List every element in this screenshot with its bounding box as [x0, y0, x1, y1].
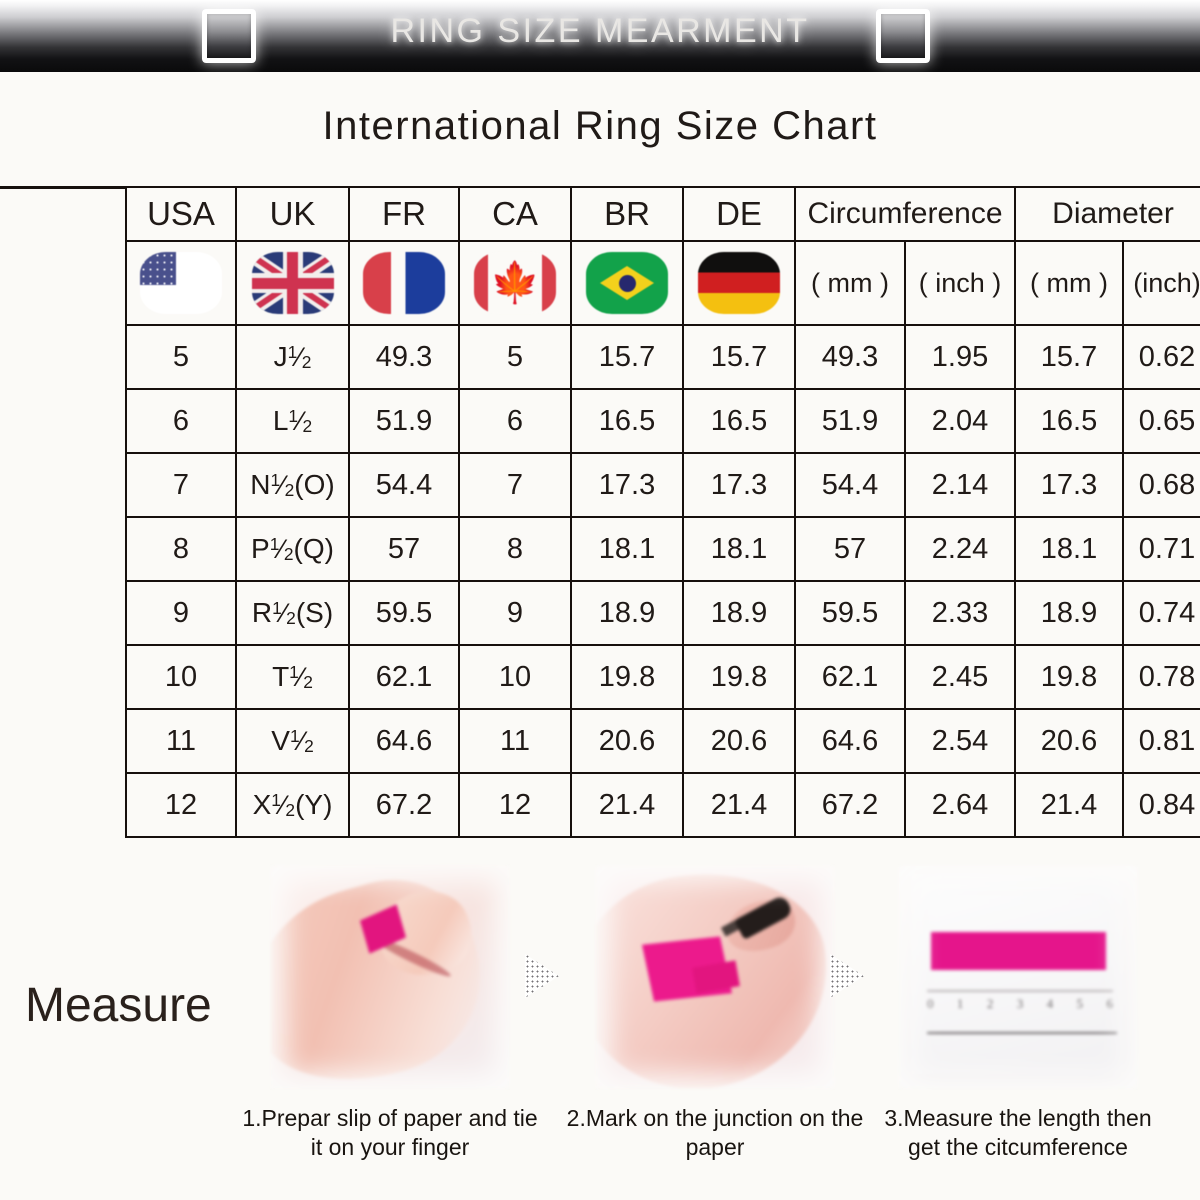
- cell-de: 19.8: [683, 645, 795, 709]
- cell-diam_mm: 16.5: [1015, 389, 1123, 453]
- cell-diam_mm: 17.3: [1015, 453, 1123, 517]
- table-row: 9R1⁄2(S)59.5918.918.959.52.3318.90.74: [126, 581, 1200, 645]
- uk-half-fraction: 1⁄2: [290, 725, 314, 756]
- cell-diam_in: 0.74: [1123, 581, 1200, 645]
- cell-diam_in: 0.65: [1123, 389, 1200, 453]
- cell-diam_in: 0.71: [1123, 517, 1200, 581]
- uk-letter: P: [251, 533, 270, 564]
- table-row: 6L1⁄251.9616.516.551.92.0416.50.65: [126, 389, 1200, 453]
- cell-usa: 8: [126, 517, 236, 581]
- cell-fr: 49.3: [349, 325, 459, 389]
- ruler-tick: 4: [1047, 996, 1054, 1028]
- cell-fr: 51.9: [349, 389, 459, 453]
- cell-uk: N1⁄2(O): [236, 453, 349, 517]
- cell-fr: 62.1: [349, 645, 459, 709]
- cell-uk: V1⁄2: [236, 709, 349, 773]
- step-1-caption: 1.Prepar slip of paper and tie it on you…: [240, 1104, 540, 1163]
- step-2-caption: 2.Mark on the junction on the paper: [565, 1104, 865, 1163]
- measure-step-1: 1.Prepar slip of paper and tie it on you…: [260, 866, 520, 1088]
- cell-fr: 67.2: [349, 773, 459, 837]
- uk-half-fraction: 1⁄2: [271, 789, 295, 820]
- flag-br-icon: [586, 252, 668, 314]
- cell-de: 15.7: [683, 325, 795, 389]
- step-3-caption: 3.Measure the length then get the citcum…: [868, 1104, 1168, 1163]
- cell-circ_in: 2.33: [905, 581, 1015, 645]
- flag-de-icon: [698, 252, 780, 314]
- cell-ca: 11: [459, 709, 571, 773]
- uk-letter: X: [253, 789, 272, 820]
- flag-cell-fr: [349, 241, 459, 325]
- cell-ca: 8: [459, 517, 571, 581]
- uk-half-fraction: 1⁄2: [288, 341, 312, 372]
- cell-uk: L1⁄2: [236, 389, 349, 453]
- cell-uk: X1⁄2(Y): [236, 773, 349, 837]
- uk-letter: L: [273, 405, 289, 436]
- cell-circ_in: 1.95: [905, 325, 1015, 389]
- uk-suffix: (Q): [294, 533, 334, 564]
- uk-half-fraction: 1⁄2: [271, 469, 295, 500]
- cell-ca: 12: [459, 773, 571, 837]
- cell-circ_mm: 67.2: [795, 773, 905, 837]
- table-row: 10T1⁄262.11019.819.862.12.4519.80.78: [126, 645, 1200, 709]
- cell-circ_mm: 62.1: [795, 645, 905, 709]
- cell-diam_in: 0.78: [1123, 645, 1200, 709]
- cell-de: 18.1: [683, 517, 795, 581]
- ruler-ticks: 0123456: [927, 996, 1113, 1028]
- flag-us-icon: [140, 252, 222, 314]
- table-header-row-flags: 🍁 ( mm ) ( inch ) ( mm ) (inch): [126, 241, 1200, 325]
- cell-de: 20.6: [683, 709, 795, 773]
- col-header-uk: UK: [236, 187, 349, 241]
- cell-de: 17.3: [683, 453, 795, 517]
- cell-uk: R1⁄2(S): [236, 581, 349, 645]
- cell-br: 21.4: [571, 773, 683, 837]
- arrow-right-icon-2: [830, 954, 864, 998]
- table-row: 11V1⁄264.61120.620.664.62.5420.60.81: [126, 709, 1200, 773]
- uk-letter: R: [252, 597, 272, 628]
- unit-header-circ-mm: ( mm ): [795, 241, 905, 325]
- cell-br: 18.9: [571, 581, 683, 645]
- cell-usa: 9: [126, 581, 236, 645]
- table-row: 5J1⁄249.3515.715.749.31.9515.70.62: [126, 325, 1200, 389]
- cell-de: 16.5: [683, 389, 795, 453]
- uk-half-fraction: 1⁄2: [272, 597, 296, 628]
- cell-diam_in: 0.62: [1123, 325, 1200, 389]
- ring-size-table: USA UK FR CA BR DE Circumference Diamete…: [125, 186, 1200, 838]
- cell-ca: 9: [459, 581, 571, 645]
- ruler-tick: 2: [987, 996, 994, 1028]
- uk-letter: V: [271, 725, 290, 756]
- measure-step-2: 2.Mark on the junction on the paper: [585, 866, 845, 1088]
- flag-cell-ca: 🍁: [459, 241, 571, 325]
- col-header-fr: FR: [349, 187, 459, 241]
- cell-ca: 7: [459, 453, 571, 517]
- uk-suffix: (Y): [295, 789, 332, 820]
- cell-fr: 54.4: [349, 453, 459, 517]
- cell-diam_in: 0.84: [1123, 773, 1200, 837]
- col-header-br: BR: [571, 187, 683, 241]
- table-body: 5J1⁄249.3515.715.749.31.9515.70.626L1⁄25…: [126, 325, 1200, 837]
- uk-suffix: (S): [296, 597, 333, 628]
- cell-de: 18.9: [683, 581, 795, 645]
- measure-steps: 1.Prepar slip of paper and tie it on you…: [240, 866, 1200, 1186]
- cell-fr: 59.5: [349, 581, 459, 645]
- cell-diam_mm: 15.7: [1015, 325, 1123, 389]
- cell-fr: 64.6: [349, 709, 459, 773]
- cell-uk: J1⁄2: [236, 325, 349, 389]
- cell-diam_mm: 18.9: [1015, 581, 1123, 645]
- cell-br: 15.7: [571, 325, 683, 389]
- step-1-photo: [271, 866, 509, 1088]
- cell-circ_in: 2.24: [905, 517, 1015, 581]
- col-header-circumference: Circumference: [795, 187, 1015, 241]
- cell-br: 16.5: [571, 389, 683, 453]
- ruler-tick: 3: [1017, 996, 1024, 1028]
- cell-uk: P1⁄2(Q): [236, 517, 349, 581]
- cell-de: 21.4: [683, 773, 795, 837]
- cell-circ_mm: 49.3: [795, 325, 905, 389]
- cell-circ_in: 2.64: [905, 773, 1015, 837]
- cell-circ_mm: 59.5: [795, 581, 905, 645]
- cell-usa: 10: [126, 645, 236, 709]
- uk-letter: N: [250, 469, 270, 500]
- col-header-diameter: Diameter: [1015, 187, 1200, 241]
- cell-uk: T1⁄2: [236, 645, 349, 709]
- cell-ca: 10: [459, 645, 571, 709]
- uk-suffix: (O): [294, 469, 334, 500]
- cell-circ_mm: 57: [795, 517, 905, 581]
- ruler-tick: 0: [927, 996, 934, 1028]
- cell-circ_in: 2.04: [905, 389, 1015, 453]
- cell-fr: 57: [349, 517, 459, 581]
- cell-ca: 5: [459, 325, 571, 389]
- measure-step-3: 0123456 3.Measure the length then get th…: [888, 866, 1148, 1088]
- uk-letter: J: [274, 341, 288, 372]
- cell-diam_mm: 20.6: [1015, 709, 1123, 773]
- cell-usa: 7: [126, 453, 236, 517]
- cell-diam_mm: 18.1: [1015, 517, 1123, 581]
- arrow-right-icon-1: [525, 954, 559, 998]
- flag-cell-br: [571, 241, 683, 325]
- flag-cell-uk: [236, 241, 349, 325]
- banner-title: RING SIZE MEARMENT: [0, 12, 1200, 51]
- cell-br: 19.8: [571, 645, 683, 709]
- uk-half-fraction: 1⁄2: [288, 405, 312, 436]
- step-2-photo: [596, 866, 834, 1088]
- flag-uk-icon: [252, 252, 334, 314]
- uk-letter: T: [272, 661, 289, 692]
- cell-diam_mm: 19.8: [1015, 645, 1123, 709]
- cell-circ_mm: 54.4: [795, 453, 905, 517]
- cell-usa: 12: [126, 773, 236, 837]
- cell-br: 18.1: [571, 517, 683, 581]
- table-row: 12X1⁄2(Y)67.21221.421.467.22.6421.40.84: [126, 773, 1200, 837]
- top-banner: RING SIZE MEARMENT: [0, 0, 1200, 72]
- cell-circ_mm: 64.6: [795, 709, 905, 773]
- ruler-tick: 5: [1077, 996, 1084, 1028]
- step-3-photo: 0123456: [899, 866, 1137, 1088]
- flag-cell-usa: [126, 241, 236, 325]
- uk-half-fraction: 1⁄2: [270, 533, 294, 564]
- unit-header-diam-mm: ( mm ): [1015, 241, 1123, 325]
- cell-circ_mm: 51.9: [795, 389, 905, 453]
- ruler-tick: 1: [957, 996, 964, 1028]
- cell-ca: 6: [459, 389, 571, 453]
- cell-usa: 6: [126, 389, 236, 453]
- col-header-usa: USA: [126, 187, 236, 241]
- table-row: 7N1⁄2(O)54.4717.317.354.42.1417.30.68: [126, 453, 1200, 517]
- cell-br: 17.3: [571, 453, 683, 517]
- col-header-de: DE: [683, 187, 795, 241]
- table-row: 8P1⁄2(Q)57818.118.1572.2418.10.71: [126, 517, 1200, 581]
- cell-diam_in: 0.68: [1123, 453, 1200, 517]
- cell-circ_in: 2.54: [905, 709, 1015, 773]
- flag-cell-de: [683, 241, 795, 325]
- table-header-row-countries: USA UK FR CA BR DE Circumference Diamete…: [126, 187, 1200, 241]
- unit-header-diam-in: (inch): [1123, 241, 1200, 325]
- ruler-tick: 6: [1106, 996, 1113, 1028]
- measure-label: Measure: [25, 978, 212, 1033]
- cell-diam_in: 0.81: [1123, 709, 1200, 773]
- flag-fr-icon: [363, 252, 445, 314]
- cell-circ_in: 2.14: [905, 453, 1015, 517]
- uk-half-fraction: 1⁄2: [289, 661, 313, 692]
- cell-br: 20.6: [571, 709, 683, 773]
- cell-circ_in: 2.45: [905, 645, 1015, 709]
- page-title: International Ring Size Chart: [0, 104, 1200, 149]
- cell-usa: 5: [126, 325, 236, 389]
- flag-ca-icon: 🍁: [474, 252, 556, 314]
- cell-diam_mm: 21.4: [1015, 773, 1123, 837]
- col-header-ca: CA: [459, 187, 571, 241]
- maple-leaf-icon: 🍁: [490, 263, 540, 303]
- cell-usa: 11: [126, 709, 236, 773]
- frame-icon-right: [876, 9, 930, 63]
- unit-header-circ-in: ( inch ): [905, 241, 1015, 325]
